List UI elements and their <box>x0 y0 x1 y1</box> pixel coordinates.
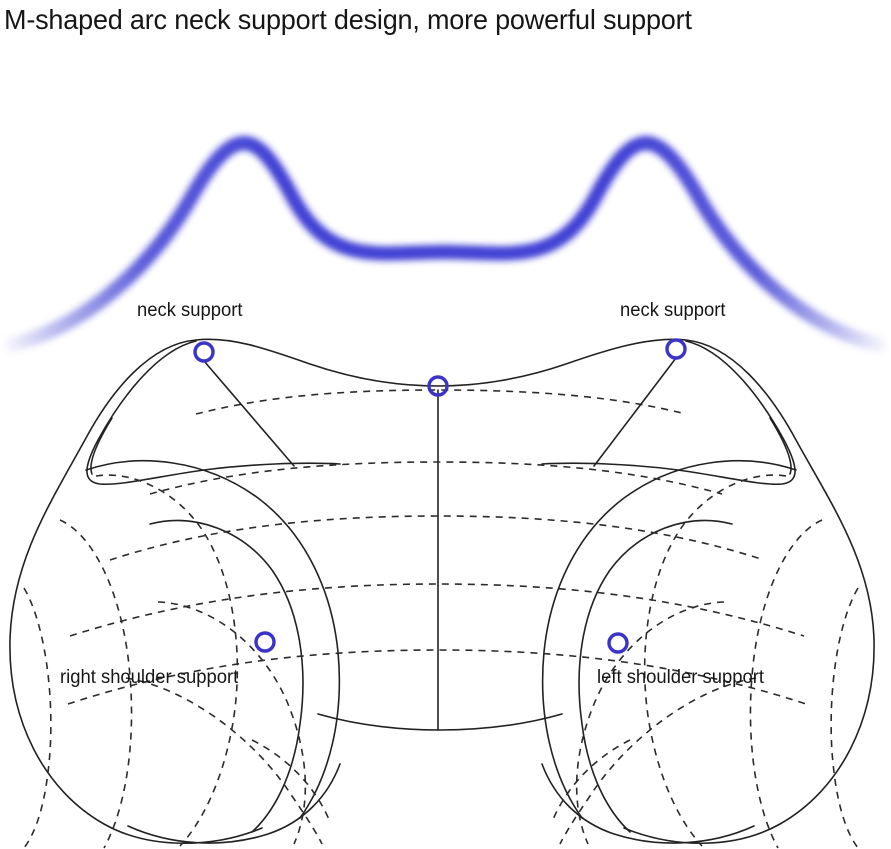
left-lobe-seam-d <box>577 602 724 844</box>
product-illustration <box>0 0 891 849</box>
center-bottom-edge <box>318 714 562 730</box>
right-lobe-bottom-curl <box>252 740 330 822</box>
label-neck-support-right: neck support <box>137 300 243 322</box>
left-shoulder-support-marker <box>609 634 627 652</box>
page-root: M-shaped arc neck support design, more p… <box>0 0 891 849</box>
neck-support-right-marker <box>195 343 213 361</box>
pillow-dashed-seams-group <box>24 390 858 848</box>
marker-leader-lines <box>204 358 676 466</box>
callout-markers-group <box>195 340 685 652</box>
right-lobe-seam-c <box>24 588 51 848</box>
neck-support-left-marker <box>667 340 685 358</box>
label-left-shoulder-support: left shoulder support <box>597 667 764 689</box>
right-lobe-seam-d <box>158 602 305 844</box>
right-shoulder-support-marker <box>256 633 274 651</box>
right-lobe-seam-a <box>96 475 237 846</box>
seam-arc-4 <box>70 584 804 636</box>
left-lobe-seam-c <box>831 588 858 848</box>
left-wing-inner-edge <box>542 341 795 484</box>
label-right-shoulder-support: right shoulder support <box>60 667 238 689</box>
leader-neck-left <box>594 358 676 466</box>
left-lobe-bottom-curl <box>552 740 630 822</box>
left-lobe-bottom-rim <box>542 764 754 843</box>
left-lobe-seam-a <box>645 475 786 846</box>
outer-silhouette-left-lobe <box>624 340 874 843</box>
right-lobe-shoulder-arc <box>86 461 339 818</box>
label-neck-support-left: neck support <box>620 300 726 322</box>
right-wing-inner-edge <box>87 341 340 484</box>
right-lobe-bottom-rim <box>128 764 340 843</box>
pillow-outline-group <box>10 339 874 843</box>
leader-neck-right <box>204 361 294 466</box>
left-lobe-shoulder-arc <box>543 461 796 818</box>
